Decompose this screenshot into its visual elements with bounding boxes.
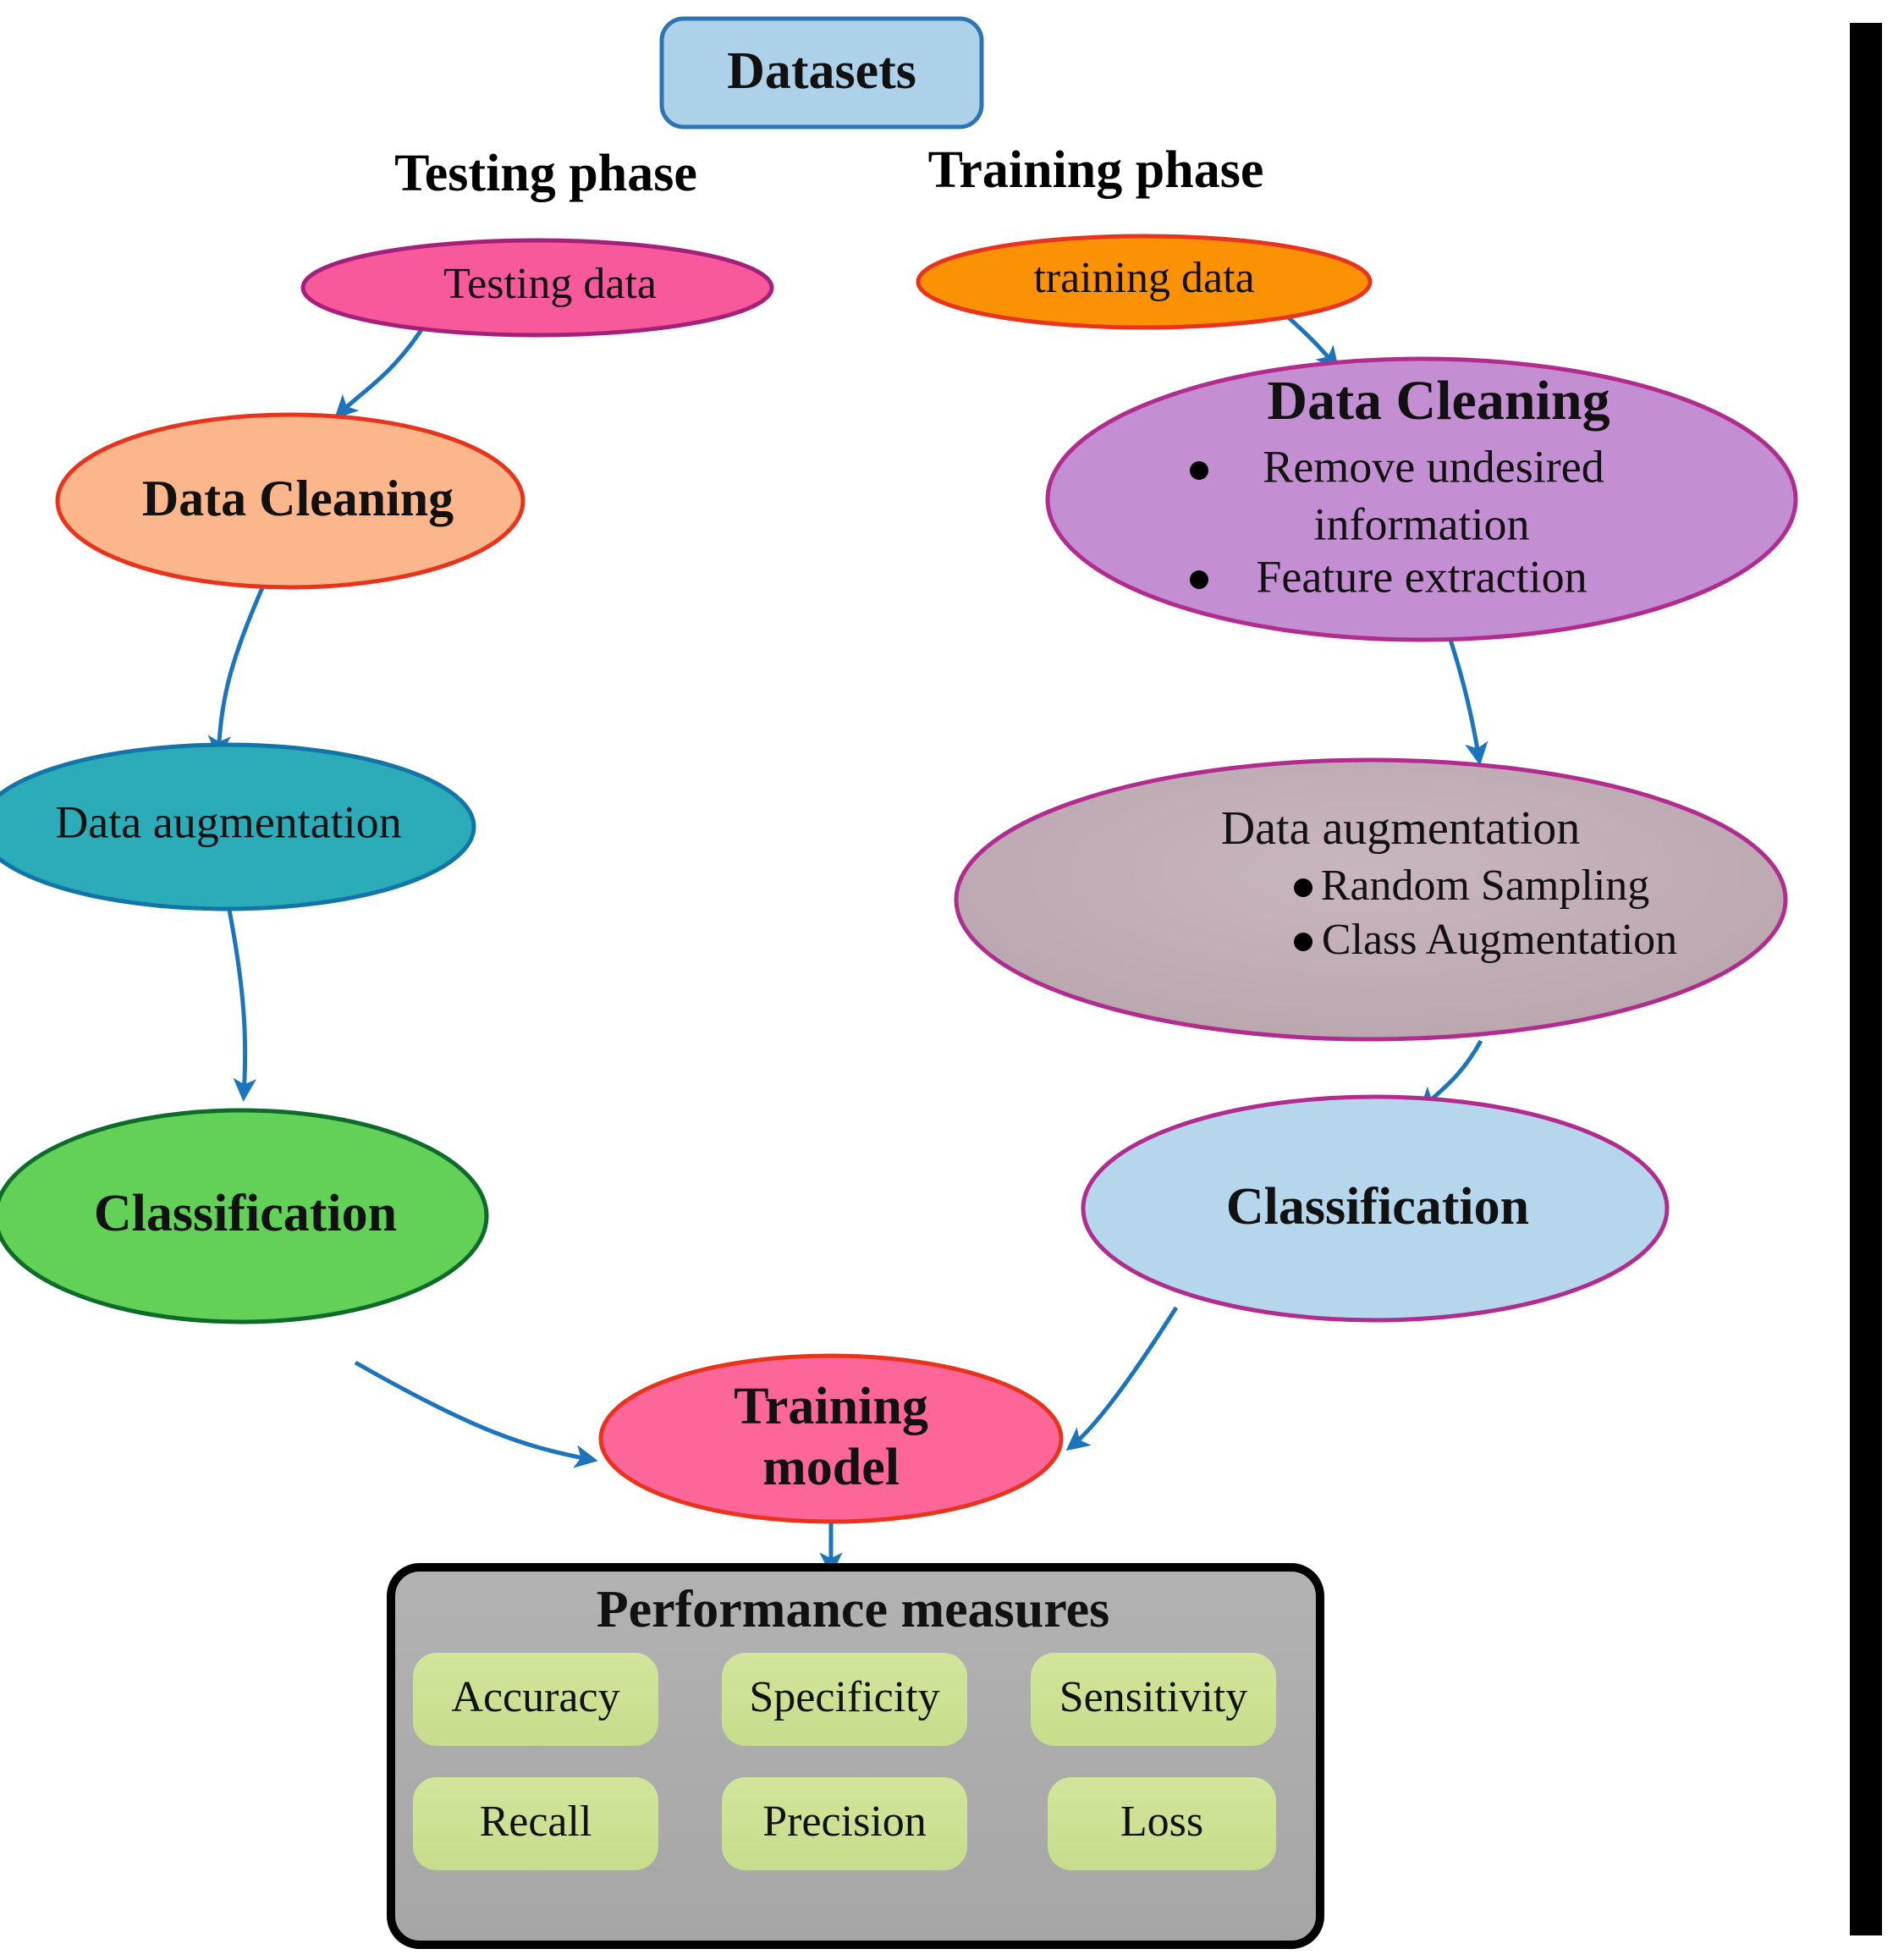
chip-accuracy-label: Accuracy [451,1673,619,1721]
data-cleaning-testing-label: Data Cleaning [142,471,454,526]
data-cleaning-bullet-1-line-1: Remove undesired [1263,441,1604,492]
performance-measures-title: Performance measures [597,1581,1110,1638]
right-black-bar [1850,23,1882,1935]
chip-precision-label: Precision [762,1798,927,1846]
classification-testing-label: Classification [94,1185,397,1242]
data-cleaning-bullet-1-line-2: information [1314,498,1530,549]
edge-data-cleaning-to-data-augmentation [218,584,264,753]
chip-specificity[interactable]: Specificity [722,1653,967,1746]
training-phase-title: Training phase [928,141,1264,199]
training-model-label-line2: model [762,1439,900,1496]
node-data-cleaning-testing[interactable]: Data Cleaning [58,415,523,587]
datasets-label: Datasets [727,42,916,100]
testing-phase-title: Testing phase [394,145,697,202]
chip-loss-label: Loss [1120,1798,1203,1846]
node-datasets[interactable]: Datasets [662,19,982,127]
data-augmentation-bullet-2: Class Augmentation [1322,916,1677,964]
chip-sensitivity-label: Sensitivity [1059,1673,1247,1721]
testing-data-label: Testing data [443,260,657,308]
node-training-model[interactable]: Training model [601,1356,1061,1522]
data-augmentation-training-title: Data augmentation [1221,802,1581,855]
node-data-cleaning-training[interactable]: Data Cleaning Remove undesired informati… [1048,359,1796,640]
node-classification-training[interactable]: Classification [1083,1097,1667,1320]
edge-data-cleaning-training-to-data-augmentation-training [1449,635,1479,760]
bullet-dot-icon [1294,933,1312,951]
node-classification-testing[interactable]: Classification [0,1110,487,1322]
bullet-dot-icon [1190,461,1208,480]
edge-classification-to-training-model [355,1363,592,1460]
edge-classification-training-to-training-model [1070,1308,1176,1447]
data-augmentation-bullet-1: Random Sampling [1321,862,1650,910]
training-model-label-line1: Training [734,1378,928,1435]
bullet-dot-icon [1294,878,1312,897]
training-data-label: training data [1033,254,1254,302]
data-cleaning-training-title: Data Cleaning [1267,370,1610,432]
node-data-augmentation-training[interactable]: Data augmentation Random Sampling Class … [956,760,1786,1039]
chip-recall[interactable]: Recall [413,1777,658,1870]
pipeline-flowchart: Datasets Testing phase Training phase Te… [0,0,1904,1960]
node-training-data[interactable]: training data [918,236,1370,328]
node-testing-data[interactable]: Testing data [303,240,772,335]
chip-precision[interactable]: Precision [722,1777,967,1870]
chip-accuracy[interactable]: Accuracy [413,1653,658,1746]
data-augmentation-testing-label: Data augmentation [55,796,401,847]
classification-training-label: Classification [1226,1178,1529,1236]
chip-loss[interactable]: Loss [1048,1777,1276,1870]
node-data-augmentation-testing[interactable]: Data augmentation [0,745,474,909]
edge-data-augmentation-to-classification [227,897,245,1096]
data-cleaning-bullet-2: Feature extraction [1256,551,1587,602]
performance-measures-panel: Performance measures Accuracy Specificit… [391,1567,1320,1945]
diagram-canvas: Datasets Testing phase Training phase Te… [0,0,1904,1960]
bullet-dot-icon [1190,570,1208,589]
chip-sensitivity[interactable]: Sensitivity [1031,1653,1276,1746]
chip-recall-label: Recall [480,1798,592,1846]
chip-specificity-label: Specificity [749,1673,939,1721]
